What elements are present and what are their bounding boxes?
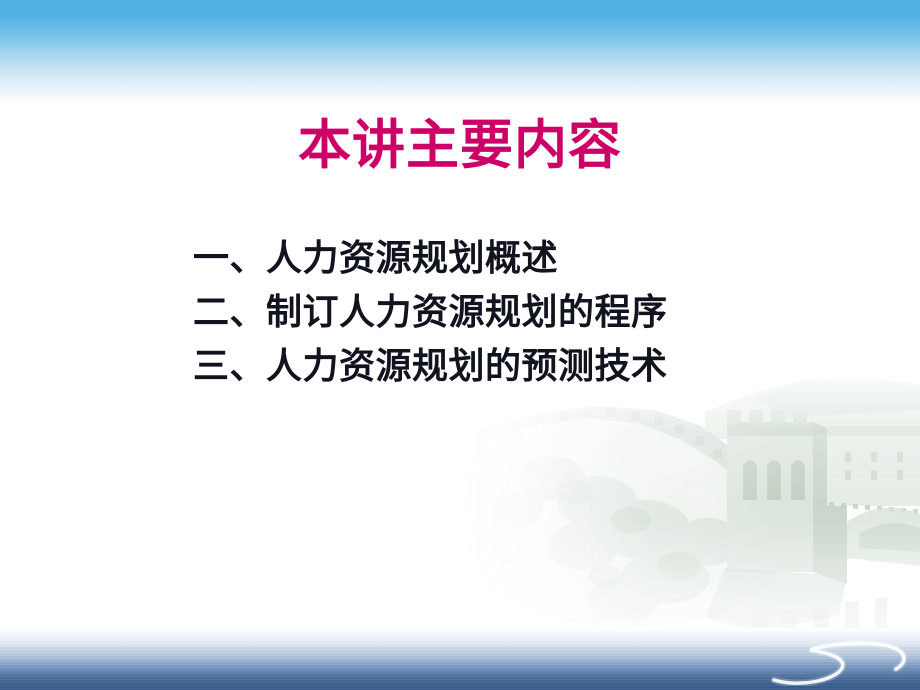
top-sky-gradient-band	[0, 0, 920, 105]
content-outline-list: 一、人力资源规划概述 二、制订人力资源规划的程序 三、人力资源规划的预测技术	[193, 232, 853, 394]
list-item: 三、人力资源规划的预测技术	[193, 340, 853, 394]
presentation-slide: 本讲主要内容 一、人力资源规划概述 二、制订人力资源规划的程序 三、人力资源规划…	[0, 0, 920, 690]
bottom-water-gradient-band	[0, 628, 920, 690]
list-item: 二、制订人力资源规划的程序	[193, 286, 853, 340]
page-title: 本讲主要内容	[0, 116, 920, 175]
great-wall-watermark	[455, 370, 920, 660]
water-wake-swirl	[766, 638, 912, 686]
list-item: 一、人力资源规划概述	[193, 232, 853, 286]
water-texture	[0, 646, 920, 690]
